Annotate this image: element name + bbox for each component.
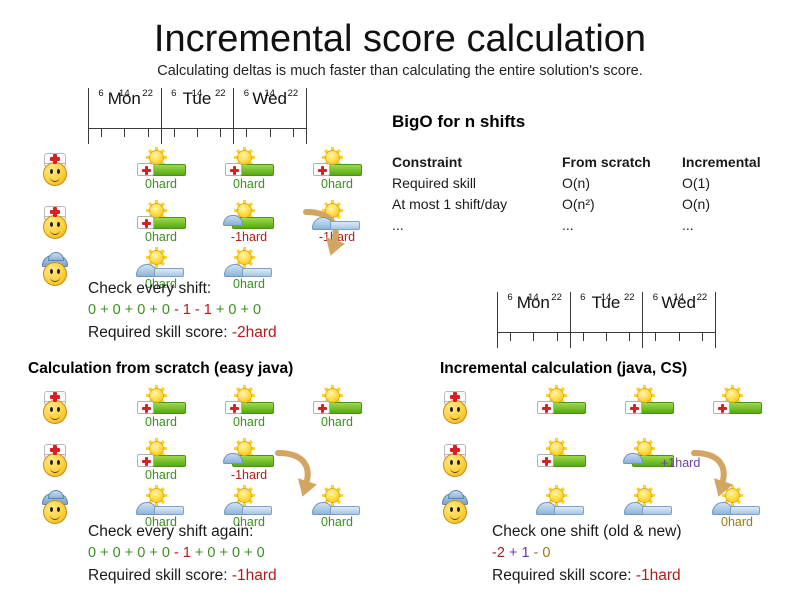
nurse-cap-icon — [137, 401, 154, 414]
ruler-hour-tick — [629, 332, 630, 341]
ruler-hour-label: 6 — [574, 292, 592, 304]
guard-shift-bar — [624, 502, 672, 515]
sum-token: + — [244, 545, 252, 561]
nurse-cap-icon — [537, 401, 554, 414]
sum-token: 0 — [257, 545, 265, 561]
red-cross-icon — [50, 157, 60, 161]
ruler-hour-tick — [124, 128, 125, 137]
avatar-eye — [450, 407, 453, 412]
shift-score: 0hard — [306, 415, 368, 430]
avatar-eye — [450, 507, 453, 512]
ruler-hour-label: 14 — [597, 292, 615, 304]
bigo-row: Required skill O(n) O(1) — [392, 173, 792, 194]
employee-row — [40, 205, 70, 239]
guard-shift-tail — [154, 506, 184, 515]
sum-token: + — [216, 302, 224, 318]
top-result-label: Required skill score: — [88, 324, 228, 341]
bigo-cell-incremental: ... — [682, 215, 800, 236]
right-sum-expression: -2 + 1 - 0 — [492, 543, 551, 564]
shift-chip[interactable]: 0hard — [218, 250, 280, 292]
sum-token: 0 — [137, 302, 145, 318]
ruler-hour-tick — [174, 128, 175, 137]
employee-row — [440, 443, 470, 477]
ruler-hour-tick — [679, 332, 680, 341]
shift-score: 0hard — [130, 415, 192, 430]
sum-token: 0 — [162, 302, 170, 318]
right-result-label: Required skill score: — [492, 567, 632, 584]
avatar-face — [43, 215, 67, 239]
right-result-value: -1hard — [636, 567, 681, 584]
employee-row — [440, 490, 470, 524]
ruler-hour-label: 14 — [261, 88, 279, 100]
sum-token: + — [149, 545, 157, 561]
avatar-guard — [40, 490, 70, 524]
shift-chip[interactable]: 0hard — [306, 388, 368, 430]
ruler-hour-label: 14 — [115, 88, 133, 100]
employee-row — [40, 443, 70, 477]
nurse-cap-icon — [313, 163, 330, 176]
shift-chip[interactable]: -1hard — [218, 203, 280, 245]
avatar-face — [43, 162, 67, 186]
avatar-face — [443, 500, 467, 524]
guard-shift-bar — [224, 502, 272, 515]
day-ruler-bottom: Mon61422Tue61422Wed61422 — [497, 292, 715, 348]
red-cross-icon — [718, 407, 727, 410]
red-cross-icon — [542, 460, 551, 463]
sum-token: 1 — [183, 545, 191, 561]
avatar-eye — [457, 460, 460, 465]
bigo-cell-scratch: O(n) — [562, 173, 682, 194]
sum-token: 1 — [183, 302, 191, 318]
employee-row — [40, 152, 70, 186]
sun-icon — [238, 489, 251, 502]
guard-shift-tail — [730, 506, 760, 515]
red-cross-icon — [142, 460, 151, 463]
red-cross-icon — [142, 407, 151, 410]
nurse-cap-icon — [625, 401, 642, 414]
ruler-hour-label: 22 — [139, 88, 157, 100]
sum-token: 0 — [542, 545, 550, 561]
guard-shift-tail — [242, 268, 272, 277]
guard-shift-tail — [330, 221, 360, 230]
sum-token: 0 — [137, 545, 145, 561]
nurse-cap-icon — [137, 163, 154, 176]
guard-shift-bar — [712, 502, 760, 515]
red-cross-icon — [450, 448, 460, 452]
shift-slot[interactable] — [618, 388, 680, 430]
shift-chip[interactable]: 0hard — [130, 150, 192, 192]
shift-chip[interactable] — [530, 388, 592, 430]
avatar-guard — [440, 490, 470, 524]
bigo-cell-scratch: O(n²) — [562, 194, 682, 215]
avatar-eye — [57, 169, 60, 174]
ruler-hour-tick — [583, 332, 584, 341]
red-cross-icon — [142, 222, 151, 225]
avatar-nurse — [440, 443, 470, 477]
shift-slot[interactable]: 0hard — [218, 150, 280, 192]
shift-score: 0hard — [306, 515, 368, 530]
shift-slot[interactable] — [706, 388, 768, 430]
red-cross-icon — [230, 407, 239, 410]
avatar-eye — [50, 269, 53, 274]
avatar-face — [43, 400, 67, 424]
ruler-hour-label: 6 — [501, 292, 519, 304]
red-cross-icon — [450, 395, 460, 399]
sum-token: 0 — [88, 302, 96, 318]
sum-token: - — [534, 545, 539, 561]
bigo-cell-constraint: Required skill — [392, 173, 562, 194]
shift-chip[interactable]: 0hard — [218, 150, 280, 192]
avatar-eye — [50, 507, 53, 512]
sum-token: 0 — [162, 545, 170, 561]
sum-token: 0 — [228, 302, 236, 318]
guard-shift-bar — [312, 502, 360, 515]
avatar-eye — [57, 222, 60, 227]
sum-token: 0 — [253, 302, 261, 318]
employee-row — [40, 252, 70, 286]
left-result-label: Required skill score: — [88, 567, 228, 584]
shift-chip[interactable] — [706, 388, 768, 430]
avatar-guard — [40, 252, 70, 286]
shift-score: 0hard — [706, 515, 768, 530]
sun-icon — [150, 489, 163, 502]
shift-slot[interactable]: 0hard — [130, 388, 192, 430]
page-title: Incremental score calculation — [0, 16, 800, 62]
shift-score: 0hard — [218, 277, 280, 292]
shift-chip[interactable]: 0hard — [306, 150, 368, 192]
hard-hat-icon — [223, 215, 243, 226]
sum-token: 0 — [88, 545, 96, 561]
ruler-hour-tick — [655, 332, 656, 341]
nurse-cap-icon — [225, 163, 242, 176]
ruler-hour-tick — [533, 332, 534, 341]
left-panel-heading: Calculation from scratch (easy java) — [28, 360, 293, 378]
shift-slot[interactable]: 0hard — [218, 388, 280, 430]
sun-icon — [238, 442, 251, 455]
nurse-cap-icon — [137, 454, 154, 467]
ruler-hour-label: 6 — [92, 88, 110, 100]
sum-token: + — [509, 545, 517, 561]
shift-score: 0hard — [218, 415, 280, 430]
left-result: Required skill score: -1hard — [88, 565, 277, 586]
sun-icon — [638, 442, 651, 455]
bigo-header-scratch: From scratch — [562, 152, 682, 173]
shift-chip[interactable] — [618, 388, 680, 430]
guard-shift-bar — [312, 217, 360, 230]
sun-icon — [150, 251, 163, 264]
sum-token: 1 — [521, 545, 529, 561]
right-panel-heading: Incremental calculation (java, CS) — [440, 360, 687, 378]
avatar-eye — [457, 407, 460, 412]
avatar-nurse — [40, 205, 70, 239]
red-cross-icon — [50, 448, 60, 452]
sum-token: -2 — [492, 545, 505, 561]
avatar-eye — [50, 407, 53, 412]
ruler-hour-label: 22 — [284, 88, 302, 100]
shift-score: 0hard — [130, 230, 192, 245]
ruler-hour-label: 6 — [165, 88, 183, 100]
nurse-cap-icon — [225, 401, 242, 414]
bigo-table: Constraint From scratch Incremental Requ… — [392, 152, 792, 236]
guard-shift-tail — [330, 506, 360, 515]
sum-token: + — [220, 545, 228, 561]
sum-token: - — [174, 302, 179, 318]
red-cross-icon — [50, 210, 60, 214]
guard-shift-bar — [136, 264, 184, 277]
guard-shift-bar — [536, 502, 584, 515]
shift-slot[interactable]: 0hard — [130, 150, 192, 192]
shift-slot[interactable]: 0hard — [306, 150, 368, 192]
sun-icon — [238, 204, 251, 217]
guard-shift-tail — [154, 268, 184, 277]
avatar-eye — [50, 460, 53, 465]
guard-shift-tail — [554, 506, 584, 515]
shift-score: 0hard — [218, 177, 280, 192]
right-result: Required skill score: -1hard — [492, 565, 681, 586]
shift-slot[interactable]: 0hard — [218, 250, 280, 292]
ruler-hour-tick — [702, 332, 703, 341]
ruler-day-divider — [306, 88, 307, 144]
red-cross-icon — [542, 407, 551, 410]
ruler-hour-tick — [293, 128, 294, 137]
avatar-nurse — [40, 443, 70, 477]
bigo-cell-scratch: ... — [562, 215, 682, 236]
avatar-face — [43, 453, 67, 477]
shift-slot[interactable]: -1hard — [218, 441, 280, 483]
sum-token: - — [195, 302, 200, 318]
sun-icon — [238, 251, 251, 264]
avatar-eye — [57, 507, 60, 512]
ruler-hour-tick — [101, 128, 102, 137]
ruler-hour-tick — [606, 332, 607, 341]
sun-icon — [638, 489, 651, 502]
bigo-header-incremental: Incremental — [682, 152, 800, 173]
shift-score: -1hard — [212, 230, 286, 245]
ruler-hour-label: 22 — [548, 292, 566, 304]
avatar-eye — [57, 460, 60, 465]
avatar-eye — [457, 507, 460, 512]
ruler-hour-tick — [148, 128, 149, 137]
move-arrow-right — [688, 447, 734, 501]
move-arrow-left — [272, 447, 318, 501]
sum-token: 0 — [207, 545, 215, 561]
red-cross-icon — [230, 169, 239, 172]
sum-token: + — [125, 545, 133, 561]
ruler-hour-tick — [220, 128, 221, 137]
sum-token: + — [149, 302, 157, 318]
bigo-row: ... ... ... — [392, 215, 792, 236]
red-cross-icon — [318, 169, 327, 172]
avatar-eye — [50, 169, 53, 174]
ruler-hour-label: 6 — [646, 292, 664, 304]
red-cross-icon — [142, 169, 151, 172]
sum-token: - — [174, 545, 179, 561]
shift-slot[interactable]: 0hard — [306, 388, 368, 430]
bigo-header-row: Constraint From scratch Incremental — [392, 152, 792, 173]
shift-score: 0hard — [130, 177, 192, 192]
sum-token: + — [125, 302, 133, 318]
guard-shift-bar — [224, 264, 272, 277]
guard-shift-bar — [136, 502, 184, 515]
bigo-cell-constraint: ... — [392, 215, 562, 236]
bigo-cell-incremental: O(n) — [682, 194, 800, 215]
shift-slot[interactable]: 0hard — [130, 441, 192, 483]
ruler-hour-label: 6 — [237, 88, 255, 100]
guard-shift-tail — [242, 506, 272, 515]
day-ruler-top: Mon61422Tue61422Wed61422 — [88, 88, 306, 144]
shift-chip[interactable]: 0hard — [130, 388, 192, 430]
hard-hat-icon — [623, 453, 643, 464]
nurse-cap-icon — [713, 401, 730, 414]
ruler-hour-tick — [270, 128, 271, 137]
ruler-hour-label: 14 — [188, 88, 206, 100]
bigo-cell-incremental: O(1) — [682, 173, 800, 194]
shift-chip[interactable]: 0hard — [130, 203, 192, 245]
ruler-hour-label: 22 — [211, 88, 229, 100]
nurse-cap-icon — [313, 401, 330, 414]
left-result-value: -1hard — [232, 567, 277, 584]
avatar-eye — [57, 407, 60, 412]
sum-token: + — [241, 302, 249, 318]
bigo-cell-constraint: At most 1 shift/day — [392, 194, 562, 215]
top-result: Required skill score: -2hard — [88, 322, 277, 343]
left-sum-expression: 0 + 0 + 0 + 0 - 1 + 0 + 0 + 0 — [88, 543, 265, 564]
ruler-hour-tick — [246, 128, 247, 137]
ruler-day-divider — [715, 292, 716, 348]
red-cross-icon — [318, 407, 327, 410]
avatar-face — [443, 453, 467, 477]
ruler-hour-tick — [197, 128, 198, 137]
avatar-face — [43, 500, 67, 524]
avatar-nurse — [40, 152, 70, 186]
page-subtitle: Calculating deltas is much faster than c… — [0, 62, 800, 80]
avatar-eye — [50, 222, 53, 227]
avatar-face — [43, 262, 67, 286]
red-cross-icon — [630, 407, 639, 410]
sun-icon — [550, 489, 563, 502]
hard-hat-icon — [223, 453, 243, 464]
top-sum-expression: 0 + 0 + 0 + 0 - 1 - 1 + 0 + 0 — [88, 300, 261, 321]
employee-row — [40, 490, 70, 524]
shift-slot[interactable]: -1hard — [218, 203, 280, 245]
ruler-hour-tick — [510, 332, 511, 341]
shift-slot[interactable] — [530, 441, 592, 483]
avatar-eye — [450, 460, 453, 465]
shift-score: 0hard — [130, 468, 192, 483]
shift-score: 0hard — [306, 177, 368, 192]
shift-slot[interactable] — [530, 388, 592, 430]
avatar-eye — [57, 269, 60, 274]
bigo-title: BigO for n shifts — [392, 112, 525, 132]
sum-token: + — [100, 545, 108, 561]
right-caption: Check one shift (old & new) — [492, 521, 682, 542]
bigo-row: At most 1 shift/day O(n²) O(n) — [392, 194, 792, 215]
sum-token: 1 — [204, 302, 212, 318]
red-cross-icon — [50, 395, 60, 399]
shift-chip[interactable]: 0hard — [218, 388, 280, 430]
schedule-grid-left: 0hard 0hard 0hard — [40, 388, 380, 508]
shift-slot[interactable]: 0hard — [130, 203, 192, 245]
ruler-hour-label: 14 — [524, 292, 542, 304]
sum-token: 0 — [113, 302, 121, 318]
left-caption: Check every shift again: — [88, 521, 253, 542]
shift-chip[interactable]: 0hard — [130, 441, 192, 483]
avatar-face — [443, 400, 467, 424]
shift-chip[interactable]: -1hard — [218, 441, 280, 483]
top-caption: Check every shift: — [88, 278, 211, 299]
employee-row — [440, 390, 470, 424]
avatar-nurse — [40, 390, 70, 424]
ruler-hour-label: 22 — [693, 292, 711, 304]
top-result-value: -2hard — [232, 324, 277, 341]
employee-row — [40, 390, 70, 424]
sum-token: 0 — [113, 545, 121, 561]
sum-token: + — [195, 545, 203, 561]
shift-chip[interactable] — [530, 441, 592, 483]
nurse-cap-icon — [137, 216, 154, 229]
guard-shift-tail — [642, 506, 672, 515]
avatar-nurse — [440, 390, 470, 424]
ruler-hour-tick — [557, 332, 558, 341]
sum-token: + — [100, 302, 108, 318]
sun-icon — [326, 489, 339, 502]
ruler-hour-label: 22 — [620, 292, 638, 304]
bigo-header-constraint: Constraint — [392, 152, 562, 173]
nurse-cap-icon — [537, 454, 554, 467]
ruler-hour-label: 14 — [670, 292, 688, 304]
move-arrow-top — [300, 206, 346, 260]
sum-token: 0 — [232, 545, 240, 561]
